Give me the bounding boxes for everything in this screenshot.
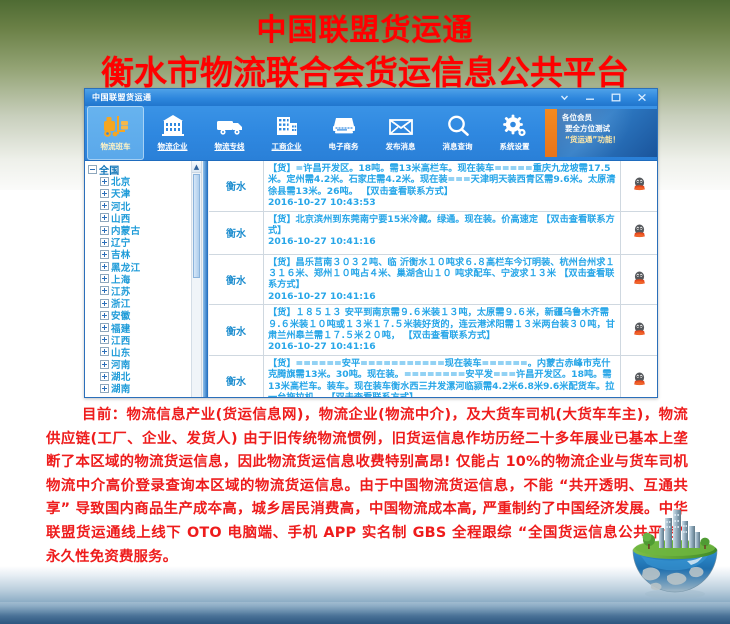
tree-node-liaoning[interactable]: 辽宁	[88, 236, 192, 248]
scrollbar-thumb[interactable]	[193, 174, 200, 278]
tree-node-henan[interactable]: 河南	[88, 358, 192, 370]
row-contact-cell[interactable]	[620, 305, 657, 355]
row-contact-cell[interactable]	[620, 356, 657, 398]
office-icon	[272, 109, 302, 142]
row-message: 【货】======安平===========现在装车======。内蒙古赤峰市克…	[268, 358, 617, 398]
row-region: 衡水	[209, 161, 264, 211]
toolbar-label: 系统设置	[500, 142, 530, 152]
body-paragraph: 目前：物流信息产业(货运信息网)，物流企业(物流中介)，及大货车司机(大货车车主…	[46, 404, 688, 569]
tree-node-hebei[interactable]: 河北	[88, 200, 192, 212]
qq-penguin-icon[interactable]	[633, 223, 646, 242]
toolbar-item-xitongshezhi[interactable]: 系统设置	[486, 106, 543, 160]
tree-vertical-scrollbar[interactable]: ▲	[191, 161, 201, 398]
table-row[interactable]: 衡水 【货】北京滨州到东莞南宁要15米冷藏。绿通。现在装。价高速定 【双击查看联…	[209, 212, 657, 255]
tree-node-shanghai[interactable]: 上海	[88, 273, 192, 285]
tree-node-root[interactable]: 全国	[88, 163, 192, 175]
row-timestamp: 2016-10-27 10:43:53	[268, 197, 617, 208]
toolbar-label: 工商企业	[272, 142, 302, 152]
tree-node-zhejiang[interactable]: 浙江	[88, 297, 192, 309]
expand-icon[interactable]	[100, 323, 109, 332]
toolbar-item-dianzishangwu[interactable]: 电子商务	[315, 106, 372, 160]
building-icon	[158, 109, 188, 142]
tree-node-anhui[interactable]: 安徽	[88, 309, 192, 321]
row-message: 【货】=许昌开发区。18吨。需13米高栏车。现在装车=====重庆九龙坡需17.…	[268, 163, 617, 197]
truck-icon	[214, 109, 246, 142]
row-timestamp: 2016-10-27 10:41:16	[268, 291, 617, 302]
member-notice-banner[interactable]: 各位会员 要全方位测试 “货运通”功能！	[545, 109, 657, 157]
ecommerce-icon	[328, 109, 360, 142]
row-timestamp: 2016-10-27 10:41:16	[268, 341, 617, 352]
expand-icon[interactable]	[100, 384, 109, 393]
tree-node-beijing[interactable]: 北京	[88, 175, 192, 187]
toolbar-item-wuliuzhuanxian[interactable]: 物流专线	[201, 106, 258, 160]
row-content[interactable]: 【货】１８５１３ 安平到南京需９.６米装１３吨，太原需９.６米，新疆乌鲁木齐需９…	[264, 305, 620, 355]
qq-penguin-icon[interactable]	[633, 321, 646, 340]
expand-icon[interactable]	[100, 250, 109, 259]
toolbar-label: 物流班车	[101, 142, 131, 152]
expand-icon[interactable]	[100, 347, 109, 356]
tree-node-shandong[interactable]: 山东	[88, 346, 192, 358]
chevron-down-icon[interactable]	[552, 91, 576, 105]
row-content[interactable]: 【货】昌乐莒南３０３２吨、临 沂衡水１０吨求６.８高栏车今订明装、杭州台州求１３…	[264, 255, 620, 305]
expand-icon[interactable]	[100, 286, 109, 295]
search-icon	[443, 109, 473, 142]
row-region: 衡水	[209, 305, 264, 355]
tree-node-heilongjiang[interactable]: 黑龙江	[88, 261, 192, 273]
forklift-icon	[101, 109, 131, 142]
row-region: 衡水	[209, 356, 264, 398]
toolbar-item-xiaoxichaxun[interactable]: 消息查询	[429, 106, 486, 160]
banner-line-2: 要全方位测试	[562, 123, 653, 134]
splitter-bar	[203, 161, 208, 398]
expand-icon[interactable]	[100, 335, 109, 344]
table-row[interactable]: 衡水 【货】======安平===========现在装车======。内蒙古赤…	[209, 356, 657, 398]
row-contact-cell[interactable]	[620, 212, 657, 254]
tree-node-fujian[interactable]: 福建	[88, 321, 192, 333]
row-message: 【货】昌乐莒南３０３２吨、临 沂衡水１０吨求６.８高栏车今订明装、杭州台州求１３…	[268, 257, 617, 291]
expand-icon[interactable]	[100, 274, 109, 283]
expand-icon[interactable]	[100, 372, 109, 381]
expand-icon[interactable]	[100, 360, 109, 369]
application-window: 中国联盟货运通	[84, 88, 658, 398]
qq-penguin-icon[interactable]	[633, 371, 646, 390]
tree-node-jiangxi[interactable]: 江西	[88, 334, 192, 346]
row-message: 【货】北京滨州到东莞南宁要15米冷藏。绿通。现在装。价高速定 【双击查看联系方式…	[268, 214, 617, 237]
banner-line-1: 各位会员	[562, 112, 653, 123]
tree-node-hubei[interactable]: 湖北	[88, 370, 192, 382]
application-body: 全国 北京 天津 河北 山西 内蒙古 辽宁 吉林 黑龙江 上海 江苏 浙江 安徽…	[85, 160, 657, 398]
globe-city-graphic	[627, 504, 723, 616]
table-row[interactable]: 衡水 【货】１８５１３ 安平到南京需９.６米装１３吨，太原需９.６米，新疆乌鲁木…	[209, 305, 657, 356]
region-tree-pane: 全国 北京 天津 河北 山西 内蒙古 辽宁 吉林 黑龙江 上海 江苏 浙江 安徽…	[85, 161, 202, 398]
tree-node-hunan[interactable]: 湖南	[88, 382, 192, 394]
close-icon[interactable]	[630, 91, 654, 105]
title-primary: 中国联盟货运通	[0, 12, 730, 50]
window-title: 中国联盟货运通	[85, 92, 152, 103]
banner-line-3: “货运通”功能！	[562, 134, 653, 145]
expand-icon[interactable]	[100, 189, 109, 198]
table-row[interactable]: 衡水 【货】昌乐莒南３０３２吨、临 沂衡水１０吨求６.８高栏车今订明装、杭州台州…	[209, 255, 657, 306]
main-toolbar: 物流班车 物流企业	[85, 106, 657, 160]
banner-body: 各位会员 要全方位测试 “货运通”功能！	[557, 109, 657, 157]
tree-node-neimenggu[interactable]: 内蒙古	[88, 224, 192, 236]
expand-icon[interactable]	[100, 213, 109, 222]
message-grid: 衡水 【货】=许昌开发区。18吨。需13米高栏车。现在装车=====重庆九龙坡需…	[209, 161, 657, 398]
row-contact-cell[interactable]	[620, 255, 657, 305]
row-timestamp: 2016-10-27 10:41:16	[268, 236, 617, 247]
toolbar-label: 消息查询	[443, 142, 473, 152]
collapse-icon[interactable]	[88, 165, 97, 174]
toolbar-label: 物流专线	[215, 142, 245, 152]
maximize-icon[interactable]	[604, 91, 628, 105]
toolbar-label: 物流企业	[158, 142, 188, 152]
row-region: 衡水	[209, 255, 264, 305]
slide-canvas: 中国联盟货运通 衡水市物流联合会货运信息公共平台 中国联盟货运通	[0, 0, 730, 624]
tree-node-tianjin[interactable]: 天津	[88, 187, 192, 199]
row-region: 衡水	[209, 212, 264, 254]
toolbar-label: 发布消息	[386, 142, 416, 152]
region-tree: 全国 北京 天津 河北 山西 内蒙古 辽宁 吉林 黑龙江 上海 江苏 浙江 安徽…	[85, 161, 192, 398]
toolbar-item-wuliubanche[interactable]: 物流班车	[87, 106, 144, 160]
window-titlebar[interactable]: 中国联盟货运通	[85, 89, 657, 106]
banner-accent-stripe	[545, 109, 557, 157]
gear-icon	[500, 109, 530, 142]
minimize-icon[interactable]	[578, 91, 602, 105]
toolbar-item-wuliuqiye[interactable]: 物流企业	[144, 106, 201, 160]
row-content[interactable]: 【货】=许昌开发区。18吨。需13米高栏车。现在装车=====重庆九龙坡需17.…	[264, 161, 620, 211]
scroll-up-icon[interactable]: ▲	[192, 161, 201, 173]
expand-icon[interactable]	[100, 201, 109, 210]
expand-icon[interactable]	[100, 299, 109, 308]
toolbar-label: 电子商务	[329, 142, 359, 152]
table-row[interactable]: 衡水 【货】=许昌开发区。18吨。需13米高栏车。现在装车=====重庆九龙坡需…	[209, 161, 657, 212]
window-controls	[551, 89, 655, 106]
row-content[interactable]: 【货】北京滨州到东莞南宁要15米冷藏。绿通。现在装。价高速定 【双击查看联系方式…	[264, 212, 620, 254]
expand-icon[interactable]	[100, 238, 109, 247]
expand-icon[interactable]	[100, 177, 109, 186]
expand-icon[interactable]	[100, 311, 109, 320]
qq-penguin-icon[interactable]	[633, 176, 646, 195]
background-bottom-gradient	[0, 566, 730, 624]
toolbar-item-gongshangqiye[interactable]: 工商企业	[258, 106, 315, 160]
expand-icon[interactable]	[100, 262, 109, 271]
row-content[interactable]: 【货】======安平===========现在装车======。内蒙古赤峰市克…	[264, 356, 620, 398]
slide-heading: 中国联盟货运通 衡水市物流联合会货运信息公共平台	[0, 12, 730, 94]
tree-node-jiangsu[interactable]: 江苏	[88, 285, 192, 297]
toolbar-item-fabuxiaoxi[interactable]: 发布消息	[372, 106, 429, 160]
expand-icon[interactable]	[100, 226, 109, 235]
row-contact-cell[interactable]	[620, 161, 657, 211]
row-message: 【货】１８５１３ 安平到南京需９.６米装１３吨，太原需９.６米，新疆乌鲁木齐需９…	[268, 307, 617, 341]
tree-node-label: 湖南	[111, 381, 131, 395]
qq-penguin-icon[interactable]	[633, 270, 646, 289]
envelope-icon	[386, 109, 416, 142]
pane-splitter[interactable]	[202, 161, 209, 398]
